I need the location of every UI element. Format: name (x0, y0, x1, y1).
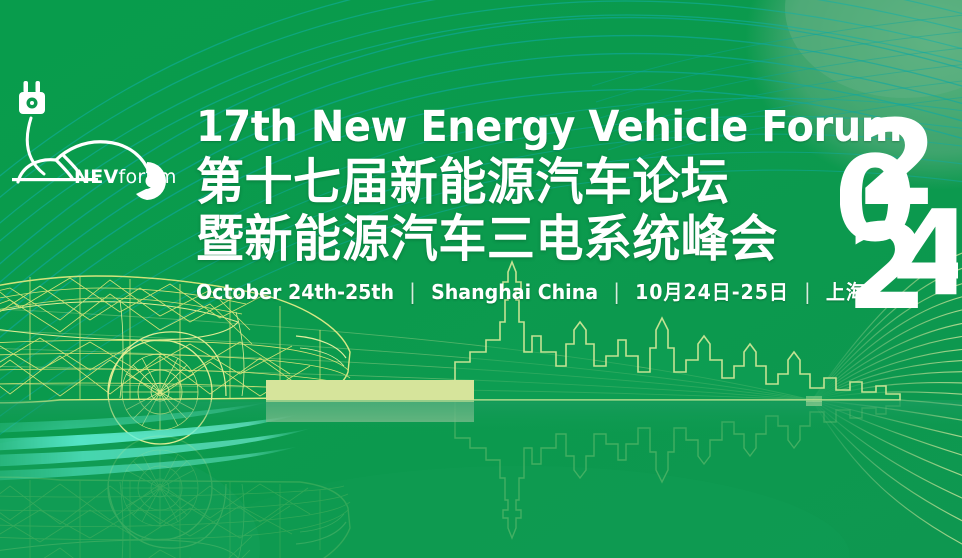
separator-1: | (401, 280, 425, 304)
date-chinese: 10月24日-25日 (635, 280, 789, 304)
year-2024-mark: 2 0 2 4 (840, 108, 958, 313)
title-chinese-2: 暨新能源汽车三电系统峰会 (196, 211, 815, 268)
lime-bar (266, 380, 474, 402)
event-details-line: October 24th-25th | Shanghai China | 10月… (196, 280, 809, 304)
horizon-reflection-band (0, 402, 962, 436)
logo-wordmark-bold: NEV (74, 166, 119, 188)
headline-block: 17th New Energy Vehicle Forum 第十七届新能源汽车论… (196, 104, 841, 304)
logo-wordmark: NEVforum (74, 166, 177, 188)
date-english: October 24th-25th (196, 280, 394, 304)
year-digit-4: 4 (892, 184, 958, 313)
title-english: 17th New Energy Vehicle Forum (196, 104, 796, 150)
separator-3: | (795, 280, 819, 304)
logo-wordmark-light: forum (119, 166, 177, 188)
title-chinese-1: 第十七届新能源汽车论坛 (196, 154, 815, 211)
location-english: Shanghai China (431, 280, 598, 304)
horizon-line (0, 400, 962, 402)
nev-forum-logo[interactable]: NEVforum (4, 78, 182, 210)
conference-banner: NEVforum 17th New Energy Vehicle Forum 第… (0, 0, 962, 558)
separator-2: | (605, 280, 629, 304)
